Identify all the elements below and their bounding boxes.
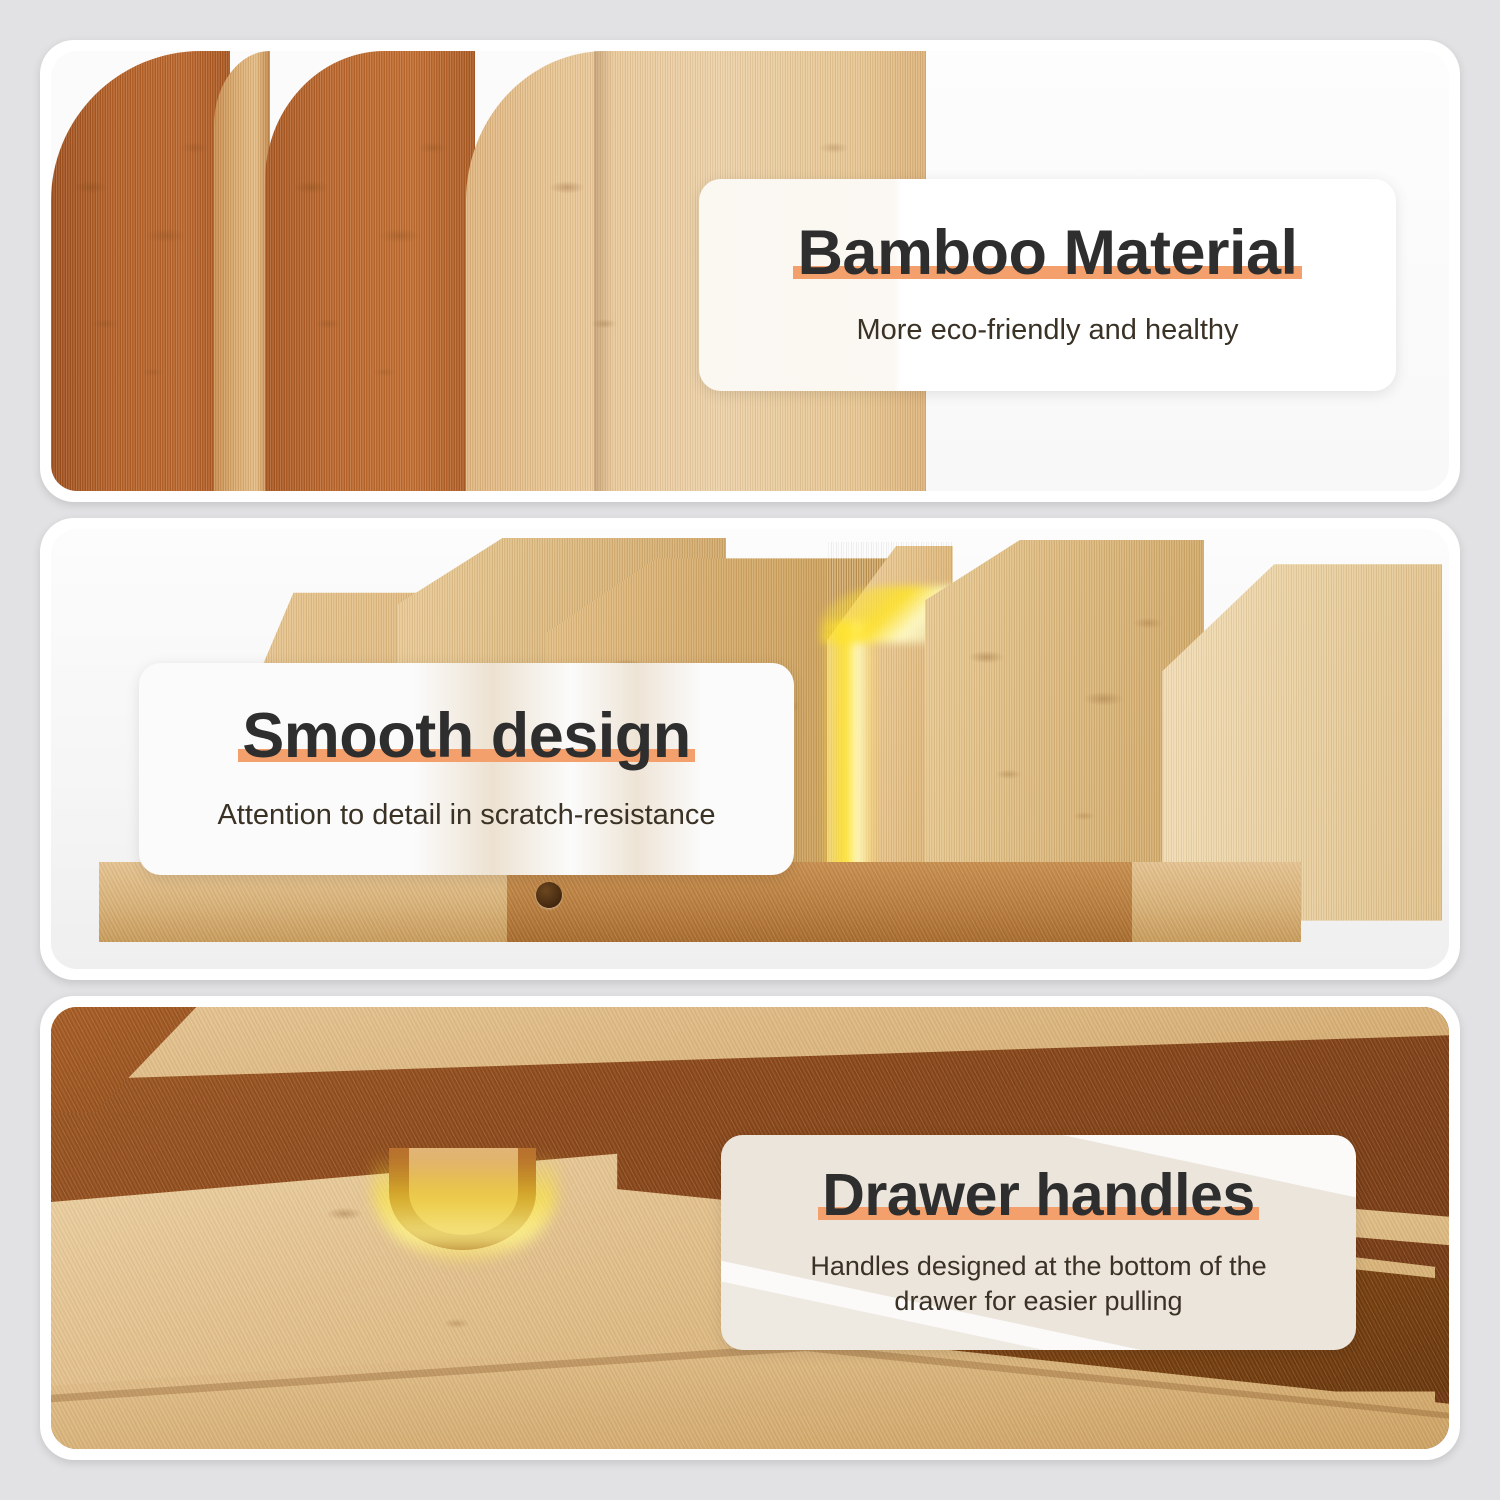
panel-2-inner: Smooth design Attention to detail in scr…	[51, 529, 1449, 969]
subtext-drawer-handles: Handles designed at the bottom of the dr…	[721, 1249, 1356, 1319]
wood-grain-texture	[214, 51, 270, 491]
feature-text-card-smooth-design: Smooth design Attention to detail in scr…	[139, 663, 794, 875]
headline-drawer-handles: Drawer handles	[822, 1165, 1254, 1227]
headline-bamboo-material: Bamboo Material	[797, 220, 1297, 286]
panel-1-inner: Bamboo Material More eco-friendly and he…	[51, 51, 1449, 491]
feature-panel-smooth-design: Smooth design Attention to detail in scr…	[40, 518, 1460, 980]
panel-3-inner: Drawer handles Handles designed at the b…	[51, 1007, 1449, 1449]
feature-panel-bamboo-material: Bamboo Material More eco-friendly and he…	[40, 40, 1460, 502]
wood-knot-marks	[265, 51, 475, 491]
card-1-body: Bamboo Material More eco-friendly and he…	[699, 220, 1396, 350]
wood-knot-marks	[51, 51, 230, 491]
headline-smooth-design: Smooth design	[242, 703, 691, 769]
board-edge-shadow	[594, 51, 613, 491]
bamboo-board-light-strip	[214, 51, 270, 491]
bamboo-board-dark-mid	[265, 51, 475, 491]
feature-text-card-bamboo-material: Bamboo Material More eco-friendly and he…	[699, 179, 1396, 391]
feature-text-card-drawer-handles: Drawer handles Handles designed at the b…	[721, 1135, 1356, 1350]
headline-text: Drawer handles	[822, 1162, 1254, 1228]
card-2-body: Smooth design Attention to detail in scr…	[139, 703, 794, 835]
subtext-smooth-design: Attention to detail in scratch-resistanc…	[139, 797, 794, 835]
feature-panel-drawer-handles: Drawer handles Handles designed at the b…	[40, 996, 1460, 1460]
subtext-bamboo-material: More eco-friendly and healthy	[699, 312, 1396, 350]
card-3-body: Drawer handles Handles designed at the b…	[721, 1165, 1356, 1319]
headline-text: Bamboo Material	[797, 218, 1297, 288]
headline-text: Smooth design	[242, 701, 691, 771]
bamboo-board-dark-left	[51, 51, 230, 491]
